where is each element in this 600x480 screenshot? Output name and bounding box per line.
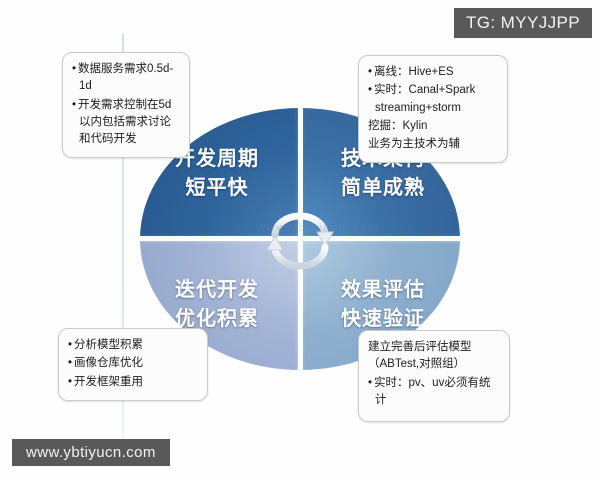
- list-item: 实时：Canal+Spark streaming+storm: [368, 82, 498, 117]
- callout-bottom-left-list: 分析模型积累 画像仓库优化 开发框架重用: [68, 337, 198, 391]
- callout-top-left[interactable]: 数据服务需求0.5d-1d 开发需求控制在5d以内包括需求讨论和代码开发: [62, 52, 190, 158]
- callout-bottom-right-list: 建立完善后评估模型（ABTest,对照组） 实时：pv、uv必须有统计: [368, 339, 500, 409]
- quadrant-divider-horizontal: [140, 236, 460, 241]
- list-item: 画像仓库优化: [68, 355, 198, 372]
- callout-bottom-left[interactable]: 分析模型积累 画像仓库优化 开发框架重用: [58, 328, 208, 401]
- watermark-site: www.ybtiyucn.com: [12, 439, 170, 466]
- list-item: 离线：Hive+ES: [368, 64, 498, 81]
- list-item: 开发框架重用: [68, 374, 198, 391]
- callout-top-left-list: 数据服务需求0.5d-1d 开发需求控制在5d以内包括需求讨论和代码开发: [72, 61, 180, 148]
- quadrant-bottom-right-line1: 效果评估: [341, 276, 425, 305]
- list-item: 数据服务需求0.5d-1d: [72, 61, 180, 96]
- callout-bottom-right[interactable]: 建立完善后评估模型（ABTest,对照组） 实时：pv、uv必须有统计: [358, 330, 510, 422]
- list-item: 开发需求控制在5d以内包括需求讨论和代码开发: [72, 97, 180, 149]
- quadrant-top-right-line2: 简单成熟: [341, 174, 425, 203]
- callout-top-right[interactable]: 离线：Hive+ES 实时：Canal+Spark streaming+stor…: [358, 55, 508, 163]
- callout-top-right-list: 离线：Hive+ES 实时：Canal+Spark streaming+stor…: [368, 64, 498, 153]
- list-item: 建立完善后评估模型（ABTest,对照组）: [368, 339, 500, 374]
- quadrant-top-left-line2: 短平快: [186, 174, 249, 203]
- list-item: 挖掘：Kylin: [368, 118, 498, 135]
- quadrant-bottom-left-line1: 迭代开发: [175, 276, 259, 305]
- list-item: 业务为主技术为辅: [368, 136, 498, 153]
- watermark-telegram: TG: MYYJJPP: [454, 8, 592, 38]
- slide-canvas: 开发周期 短平快 技术架构 简单成熟 迭代开发 优化积累 效果评估 快速验证: [0, 0, 600, 480]
- list-item: 实时：pv、uv必须有统计: [368, 375, 500, 410]
- list-item: 分析模型积累: [68, 337, 198, 354]
